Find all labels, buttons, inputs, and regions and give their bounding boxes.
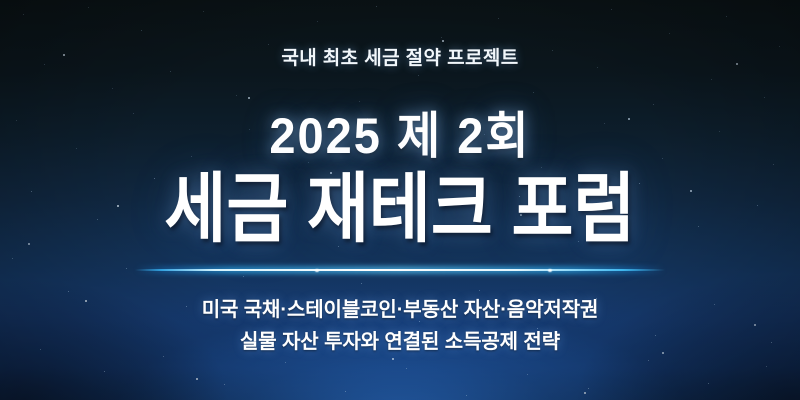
divider-core-line [135,269,665,271]
banner-edition-title: 2025 제 2회 [269,111,530,161]
divider-spark-icon [548,269,552,272]
banner-content: 국내 최초 세금 절약 프로젝트 2025 제 2회 세금 재테크 포럼 미국 … [0,0,800,400]
banner-subtitle: 미국 국채·스테이블코인·부동산 자산·음악저작권 실물 자산 투자와 연결된 … [202,295,599,358]
banner-tagline: 국내 최초 세금 절약 프로젝트 [281,43,518,70]
divider-spark-icon [315,269,319,272]
banner-subtitle-line-1: 미국 국채·스테이블코인·부동산 자산·음악저작권 [202,295,599,327]
banner-headline: 세금 재테크 포럼 [165,171,636,247]
glowing-divider [135,265,665,275]
event-promo-banner: 국내 최초 세금 절약 프로젝트 2025 제 2회 세금 재테크 포럼 미국 … [0,0,800,400]
banner-subtitle-line-2: 실물 자산 투자와 연결된 소득공제 전략 [202,327,599,359]
